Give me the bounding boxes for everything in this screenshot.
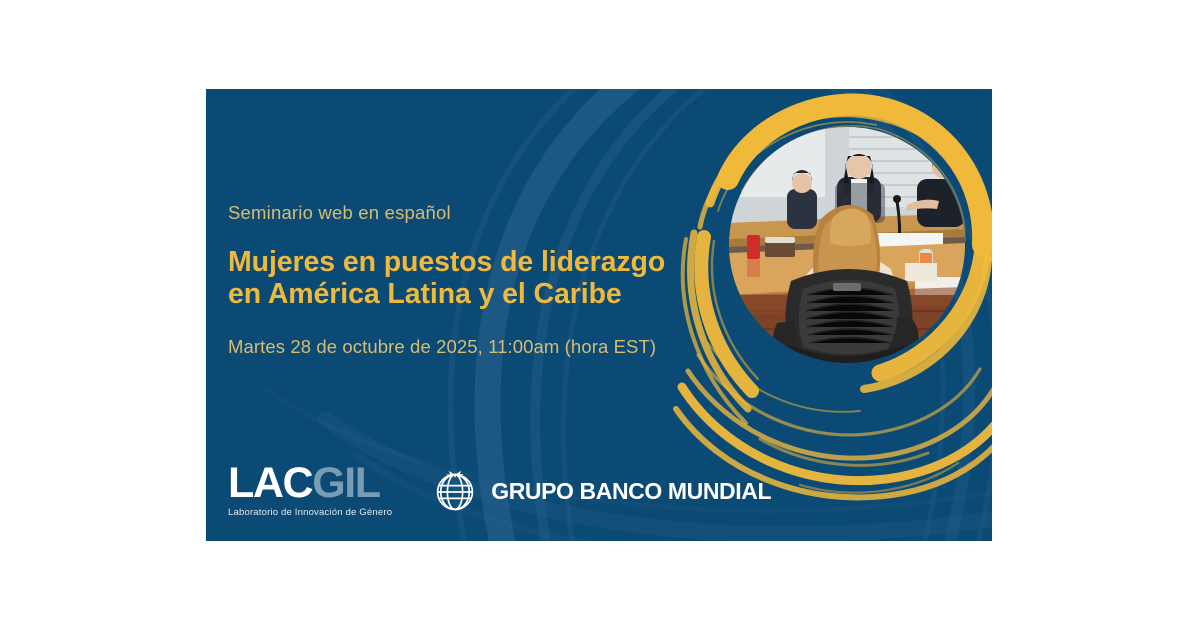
event-datetime: Martes 28 de octubre de 2025, 11:00am (h… bbox=[228, 336, 698, 358]
meeting-photo: BRAS SERVICIOS PUBLICOS S.A.E. bbox=[729, 127, 965, 363]
lacgil-tagline: Laboratorio de Innovación de Género bbox=[228, 507, 392, 519]
page-title: Mujeres en puestos de liderazgo en Améri… bbox=[228, 246, 698, 310]
lacgil-logo: LACGIL Laboratorio de Innovación de Géne… bbox=[228, 462, 392, 519]
banner-copy: Seminario web en español Mujeres en pues… bbox=[228, 202, 698, 358]
headline-line-1: Mujeres en puestos de liderazgo bbox=[228, 246, 665, 278]
lacgil-word-secondary: GIL bbox=[312, 462, 379, 505]
globe-icon bbox=[430, 466, 480, 516]
lacgil-wordmark: LACGIL bbox=[228, 462, 380, 505]
lacgil-word-primary: LAC bbox=[228, 462, 312, 505]
photo-with-brush-frame: BRAS SERVICIOS PUBLICOS S.A.E. bbox=[680, 89, 992, 507]
webinar-banner-card: Seminario web en español Mujeres en pues… bbox=[206, 89, 992, 541]
poster-canvas: Seminario web en español Mujeres en pues… bbox=[0, 0, 1200, 630]
eyebrow-label: Seminario web en español bbox=[228, 202, 698, 224]
headline-line-2: en América Latina y el Caribe bbox=[228, 278, 698, 310]
